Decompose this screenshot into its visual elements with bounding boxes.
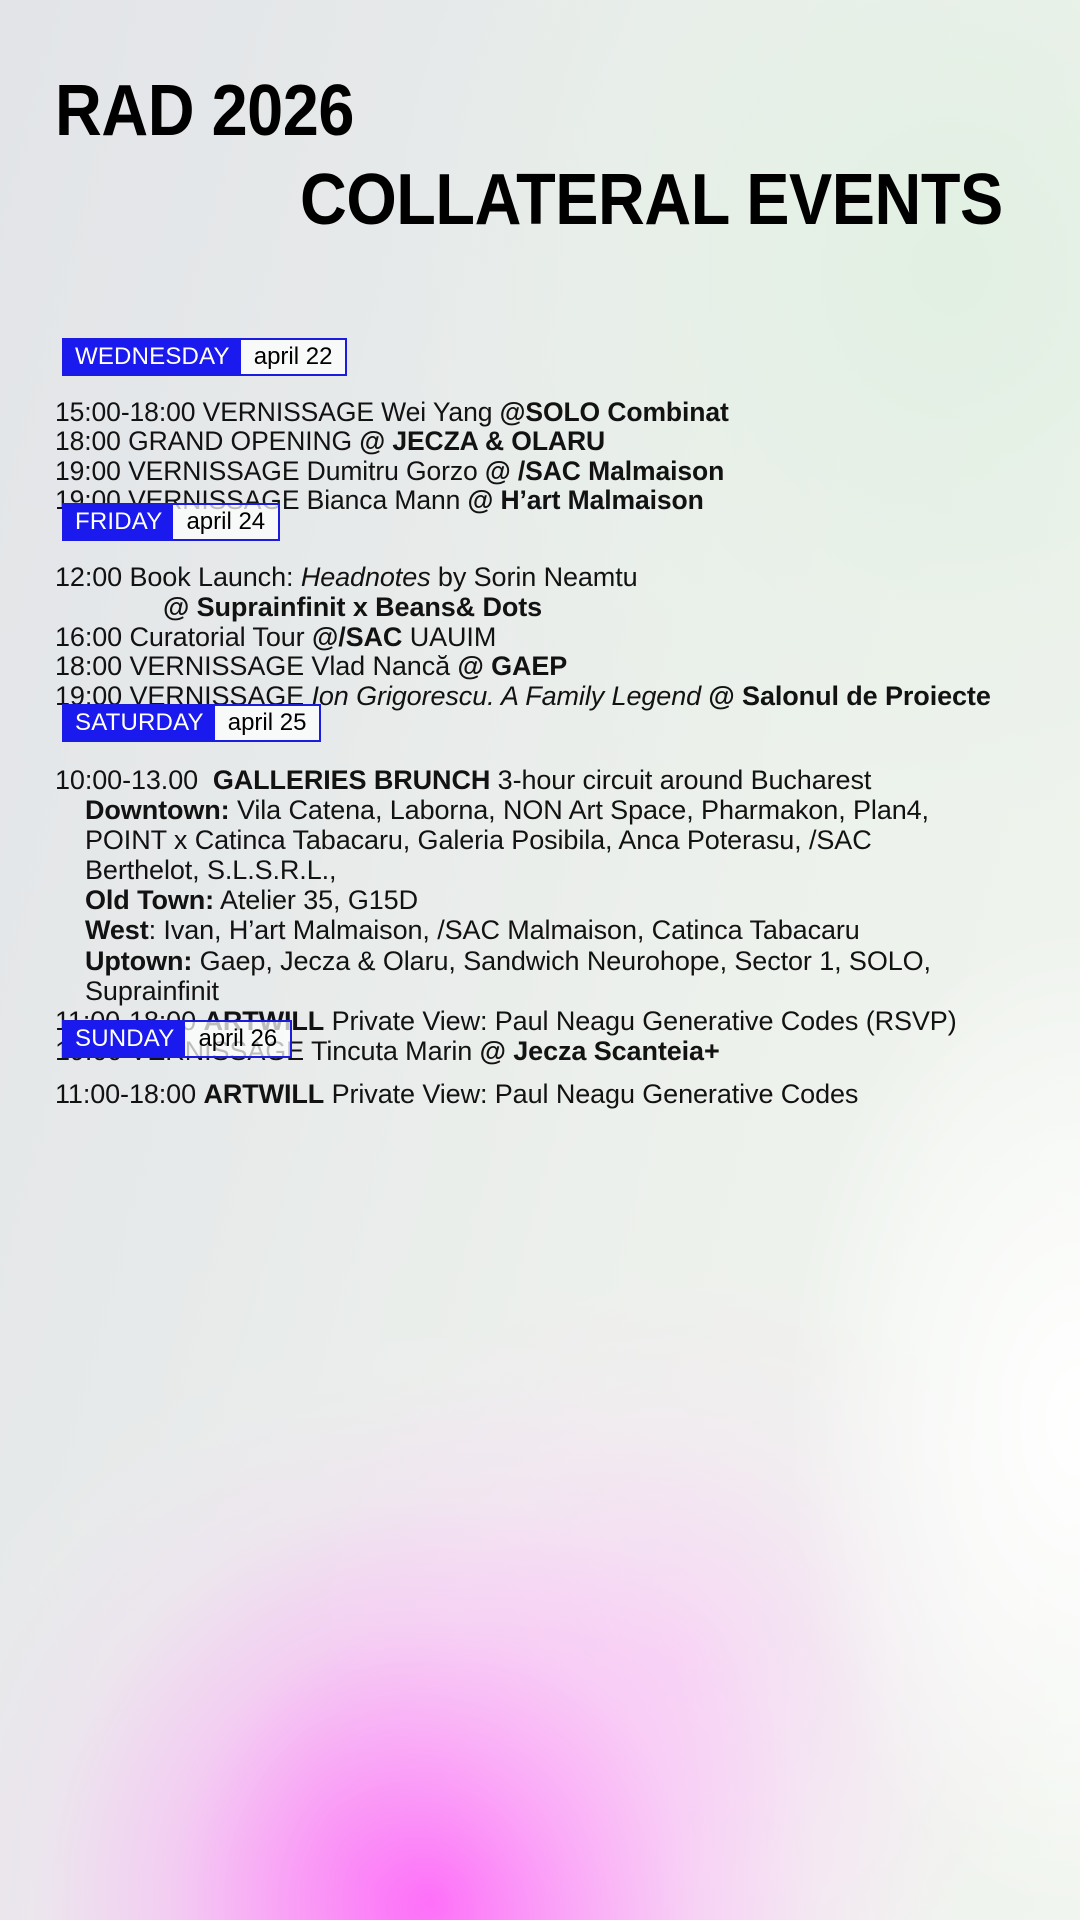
event-title: GALLERIES BRUNCH [213, 765, 490, 795]
day-block-wednesday: WEDNESDAY april 22 15:00-18:00 VERNISSAG… [0, 338, 1080, 515]
event-line: 16:00 Curatorial Tour @/SAC UAUIM [55, 623, 1080, 653]
area-venues: Gaep, Jecza & Olaru, Sandwich Neurohope,… [85, 946, 931, 1006]
event-time: 18:00 [55, 426, 121, 456]
area-venues: Atelier 35, G15D [214, 885, 418, 915]
event-venue: @ /SAC Malmaison [485, 456, 724, 486]
event-text: by Sorin Neamtu [431, 562, 638, 592]
event-time: 18:00 [55, 651, 122, 681]
day-badge-friday[interactable]: FRIDAY april 24 [62, 503, 280, 541]
badge-wrap-wednesday: WEDNESDAY april 22 [62, 338, 1080, 376]
day-block-friday: FRIDAY april 24 12:00 Book Launch: Headn… [0, 503, 1080, 712]
day-block-saturday: SATURDAY april 25 10:00-13.00 GALLERIES … [0, 704, 1080, 1066]
title-line-rad-2026: RAD 2026 [55, 78, 978, 145]
day-badge-date-sunday: april 26 [185, 1022, 290, 1056]
area-name: Old Town: [85, 885, 214, 915]
event-time: 16:00 [55, 622, 122, 652]
brunch-area-old-town: Old Town: Atelier 35, G15D [55, 885, 1080, 915]
day-badge-label-friday: FRIDAY [64, 505, 173, 539]
event-line-artwill: 11:00-18:00 ARTWILL Private View: Paul N… [55, 1080, 1080, 1110]
event-line: 18:00 GRAND OPENING @ JECZA & OLARU [55, 427, 1080, 456]
event-text: VERNISSAGE Wei Yang [195, 397, 499, 427]
event-line-brunch: 10:00-13.00 GALLERIES BRUNCH 3-hour circ… [55, 765, 1080, 795]
day-badge-label-wednesday: WEDNESDAY [64, 340, 241, 374]
event-time: 11:00-18:00 [55, 1079, 196, 1109]
badge-wrap-friday: FRIDAY april 24 [62, 503, 1080, 541]
event-time: 12:00 [55, 562, 122, 592]
badge-wrap-saturday: SATURDAY april 25 [62, 704, 1080, 742]
event-title-italic: Headnotes [301, 562, 431, 592]
event-text: VERNISSAGE Vlad Nancă [122, 651, 457, 681]
brunch-area-uptown: Uptown: Gaep, Jecza & Olaru, Sandwich Ne… [55, 946, 945, 1006]
title-line-collateral-events: COLLATERAL EVENTS [300, 167, 1002, 234]
day-block-sunday: SUNDAY april 26 11:00-18:00 ARTWILL Priv… [0, 1020, 1080, 1110]
area-name: Uptown: [85, 946, 192, 976]
event-list-wednesday: 15:00-18:00 VERNISSAGE Wei Yang @SOLO Co… [55, 398, 1080, 515]
day-badge-sunday[interactable]: SUNDAY april 26 [62, 1020, 292, 1058]
event-line: 18:00 VERNISSAGE Vlad Nancă @ GAEP [55, 652, 1080, 682]
day-badge-saturday[interactable]: SATURDAY april 25 [62, 704, 321, 742]
event-time: 19:00 [55, 456, 121, 486]
day-badge-date-friday: april 24 [173, 505, 278, 539]
badge-wrap-sunday: SUNDAY april 26 [62, 1020, 1080, 1058]
day-badge-wednesday[interactable]: WEDNESDAY april 22 [62, 338, 347, 376]
event-text: Private View: Paul Neagu Generative Code… [324, 1079, 858, 1109]
day-badge-label-sunday: SUNDAY [64, 1022, 185, 1056]
event-venue: @/SAC [312, 622, 402, 652]
event-venue: @ Suprainfinit x Beans& Dots [163, 592, 542, 622]
event-venue: @ GAEP [457, 651, 567, 681]
brunch-area-downtown: Downtown: Vila Catena, Laborna, NON Art … [55, 795, 985, 885]
event-line: 12:00 Book Launch: Headnotes by Sorin Ne… [55, 563, 1080, 593]
area-name: West [85, 915, 149, 945]
event-time: 10:00-13.00 [55, 765, 198, 795]
poster-page: RAD 2026 COLLATERAL EVENTS WEDNESDAY apr… [0, 0, 1080, 1920]
day-badge-label-saturday: SATURDAY [64, 706, 215, 740]
event-text: GRAND OPENING [121, 426, 360, 456]
brunch-area-west: West: Ivan, H’art Malmaison, /SAC Malmai… [55, 915, 1080, 945]
event-line-venue: @ Suprainfinit x Beans& Dots [55, 593, 1080, 623]
day-badge-date-saturday: april 25 [215, 706, 320, 740]
event-list-sunday: 11:00-18:00 ARTWILL Private View: Paul N… [55, 1080, 1080, 1110]
event-venue: @SOLO Combinat [500, 397, 729, 427]
event-text: Book Launch: [122, 562, 301, 592]
event-line: 19:00 VERNISSAGE Dumitru Gorzo @ /SAC Ma… [55, 457, 1080, 486]
poster-title: RAD 2026 COLLATERAL EVENTS [0, 78, 1080, 234]
event-time: 15:00-18:00 [55, 397, 195, 427]
event-text: Curatorial Tour [122, 622, 312, 652]
event-venue: @ JECZA & OLARU [359, 426, 605, 456]
event-text: VERNISSAGE Dumitru Gorzo [121, 456, 485, 486]
area-venues: : Ivan, H’art Malmaison, /SAC Malmaison,… [149, 915, 860, 945]
event-text: UAUIM [402, 622, 496, 652]
day-badge-date-wednesday: april 22 [241, 340, 346, 374]
event-text: 3-hour circuit around Bucharest [490, 765, 871, 795]
event-list-friday: 12:00 Book Launch: Headnotes by Sorin Ne… [55, 563, 1080, 712]
event-title: ARTWILL [203, 1079, 324, 1109]
event-line: 15:00-18:00 VERNISSAGE Wei Yang @SOLO Co… [55, 398, 1080, 427]
area-name: Downtown: [85, 795, 230, 825]
